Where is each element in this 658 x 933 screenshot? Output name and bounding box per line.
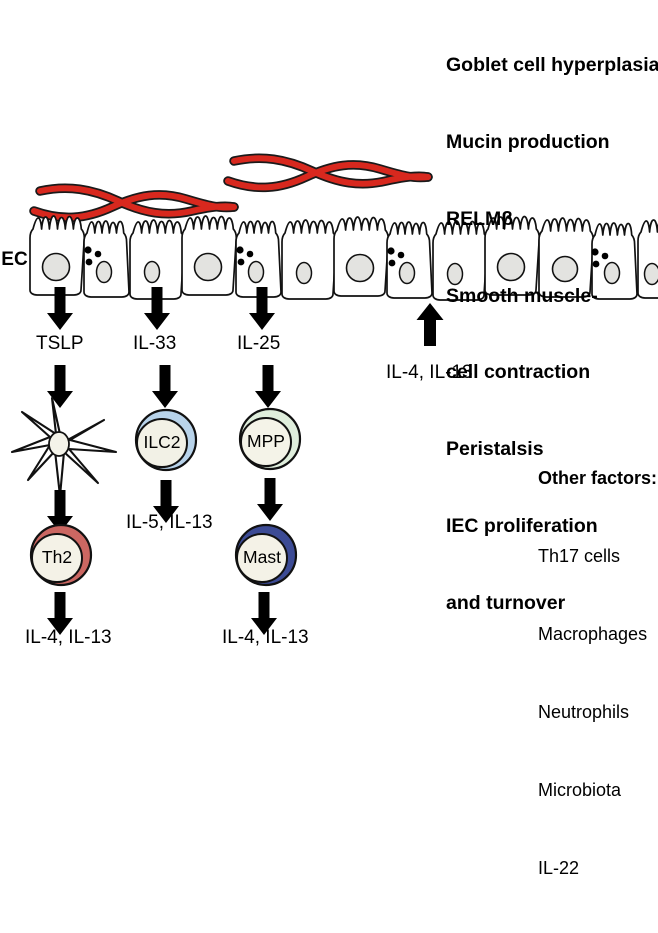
mpp-cell-label: MPP [240, 431, 292, 452]
arrow-il33-to-ilc2 [152, 365, 178, 408]
ilc2-cell-label: ILC2 [136, 432, 188, 453]
other-factor-item: Neutrophils [538, 699, 657, 725]
arrow-tslp-to-dendritic [47, 365, 73, 408]
arrow-il25-to-mpp [255, 365, 281, 408]
alarmin-label-tslp: TSLP [36, 334, 84, 353]
mast-cell-label: Mast [234, 547, 290, 568]
effect-item: RELMβ [446, 207, 658, 233]
helminth-worm-left [34, 188, 234, 217]
alarmin-label-il25: IL-25 [237, 334, 280, 353]
goblet-cell [84, 221, 129, 297]
epithelial-cell [282, 220, 336, 299]
arrow-mpp-to-mast [257, 478, 283, 521]
helminth-worm-right [228, 158, 428, 187]
ilc2-cytokine-label: IL-5, IL-13 [126, 513, 213, 532]
other-factor-item: IL-22 [538, 855, 657, 881]
th2-cell-label: Th2 [33, 547, 81, 568]
goblet-cell [387, 222, 432, 298]
dendritic-cell [12, 398, 116, 496]
iec-label: IEC [0, 250, 28, 269]
feedback-cytokine-label: IL-4, IL-13 [386, 363, 473, 382]
effect-item: Mucin production [446, 130, 658, 156]
other-factors-list: Other factors: Th17 cells Macrophages Ne… [538, 413, 657, 933]
alarmin-label-il33: IL-33 [133, 334, 176, 353]
effect-item: Smooth muscle- [446, 284, 658, 310]
goblet-cell [236, 221, 281, 297]
other-factor-item: Macrophages [538, 621, 657, 647]
effect-item: Goblet cell hyperplasia [446, 53, 658, 79]
effect-item: cell contraction [446, 360, 658, 386]
mast-cytokine-label: IL-4, IL-13 [222, 628, 309, 647]
other-factor-item: Microbiota [538, 777, 657, 803]
diagram-canvas: IEC Goblet cell hyperplasia Mucin produc… [0, 0, 658, 656]
th2-cytokine-label: IL-4, IL-13 [25, 628, 112, 647]
other-factors-heading: Other factors: [538, 465, 657, 491]
arrow-feedback-to-epithelium [417, 303, 444, 346]
other-factor-item: Th17 cells [538, 543, 657, 569]
